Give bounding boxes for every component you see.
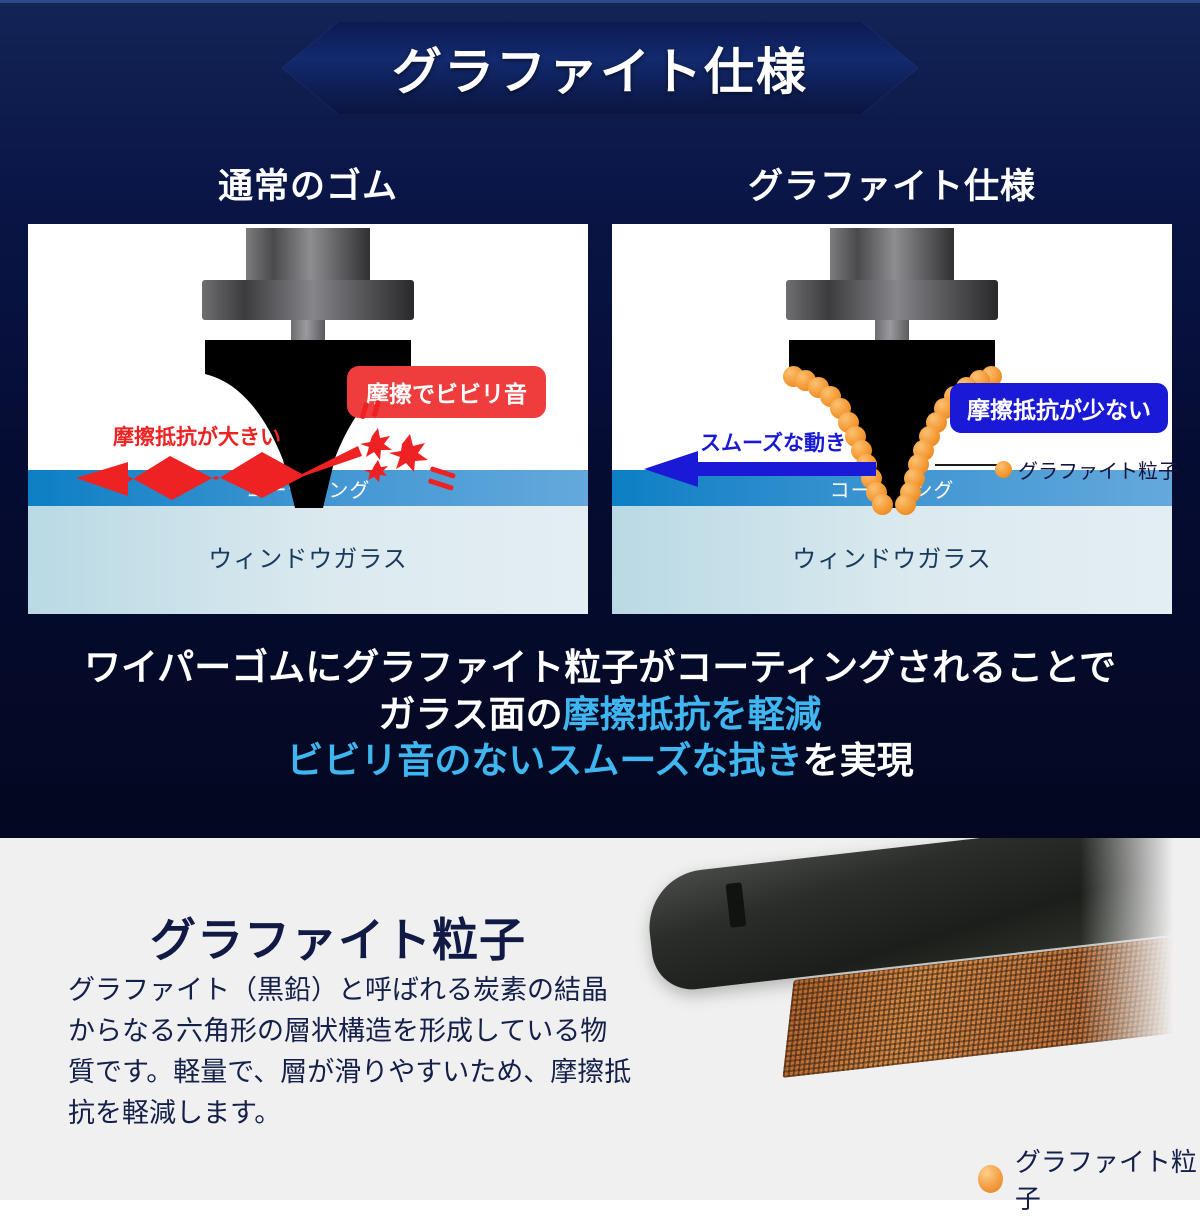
summary-line-3-plain: を実現 xyxy=(803,740,914,781)
top-hairline xyxy=(0,0,1200,3)
summary-line-2-plain: ガラス面の xyxy=(378,694,562,735)
particle-legend-label: グラファイト粒子 xyxy=(1018,455,1178,484)
badge-low-friction: 摩擦抵抗が少ない xyxy=(950,383,1168,433)
zigzag-friction-arrow xyxy=(66,440,366,507)
graphite-particle-icon xyxy=(995,461,1012,478)
summary-line-3: ビビリ音のないスムーズな拭きを実現 xyxy=(0,738,1200,785)
infographic-page: グラファイト仕様 通常のゴム グラファイト仕様 ウィンドウガラス コーティング … xyxy=(0,0,1200,1200)
graphite-particle xyxy=(895,494,916,515)
glass-label-left: ウィンドウガラス xyxy=(208,539,408,574)
particle-legend-panel: グラファイト粒子 xyxy=(995,455,1178,484)
particle-leader-line xyxy=(935,464,997,466)
summary-line-2-highlight: 摩擦抵抗を軽減 xyxy=(563,694,822,735)
title-banner: グラファイト仕様 xyxy=(282,22,918,114)
wiper-holder-top-right xyxy=(830,228,954,284)
wiper-holder-flange-left xyxy=(202,280,414,320)
wiper-holder-neck-right xyxy=(875,320,909,342)
vibration-spark-marks xyxy=(350,400,460,497)
diagram-panel-normal-rubber: ウィンドウガラス コーティング xyxy=(28,224,588,614)
banner-title-text: グラファイト仕様 xyxy=(282,22,918,114)
graphite-particle-icon-large xyxy=(978,1165,1003,1193)
bottom-description: グラファイト（黒鉛）と呼ばれる炭素の結晶からなる六角形の層状構造を形成している物… xyxy=(68,970,634,1134)
panel-heading-normal: 通常のゴム xyxy=(28,158,588,209)
smooth-motion-arrow xyxy=(640,449,878,494)
summary-text-block: ワイパーゴムにグラファイト粒子がコーティングされることで ガラス面の摩擦抵抗を軽… xyxy=(0,645,1200,785)
summary-line-2: ガラス面の摩擦抵抗を軽減 xyxy=(0,692,1200,739)
glass-layer-left: ウィンドウガラス xyxy=(28,506,588,614)
glass-layer-right: ウィンドウガラス xyxy=(612,506,1172,614)
summary-line-3-highlight: ビビリ音のないスムーズな拭き xyxy=(286,740,802,781)
wiper-holder-neck-left xyxy=(291,320,325,342)
bottom-legend-label: グラファイト粒子 xyxy=(1015,1142,1200,1216)
graphite-particle xyxy=(872,494,893,515)
bottom-heading: グラファイト粒子 xyxy=(150,904,526,970)
wiper-holder-flange-right xyxy=(786,280,998,320)
glass-label-right: ウィンドウガラス xyxy=(792,539,992,574)
panel-heading-graphite: グラファイト仕様 xyxy=(612,158,1172,209)
wiper-holder-top-left xyxy=(246,228,370,284)
bottom-legend: グラファイト粒子 xyxy=(978,1142,1200,1216)
summary-line-1: ワイパーゴムにグラファイト粒子がコーティングされることで xyxy=(0,645,1200,692)
